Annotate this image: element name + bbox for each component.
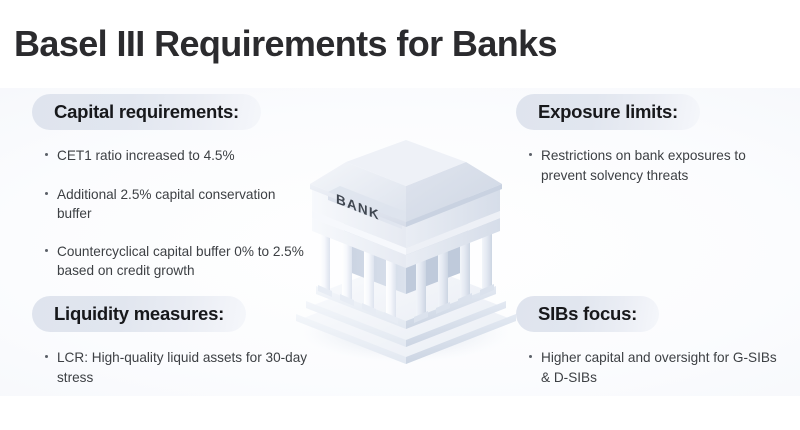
bullet-list-sibs-focus: Higher capital and oversight for G-SIBs …	[488, 348, 800, 387]
block-heading-capital-requirements: Capital requirements:	[32, 94, 261, 130]
list-item: Countercyclical capital buffer 0% to 2.5…	[44, 242, 309, 281]
block-heading-liquidity-measures: Liquidity measures:	[32, 296, 246, 332]
bullet-list-capital-requirements: CET1 ratio increased to 4.5% Additional …	[0, 146, 330, 280]
bullet-list-exposure-limits: Restrictions on bank exposures to preven…	[488, 146, 800, 185]
page-title: Basel III Requirements for Banks	[0, 24, 557, 64]
content-panel: Capital requirements: CET1 ratio increas…	[0, 88, 800, 396]
list-item: Additional 2.5% capital conservation buf…	[44, 185, 309, 224]
block-exposure-limits: Exposure limits: Restrictions on bank ex…	[488, 94, 800, 185]
bullet-list-liquidity-measures: LCR: High-quality liquid assets for 30-d…	[0, 348, 330, 387]
slide-root: Basel III Requirements for Banks Capital…	[0, 0, 800, 430]
block-sibs-focus: SIBs focus: Higher capital and oversight…	[488, 296, 800, 387]
title-bar: Basel III Requirements for Banks	[0, 0, 800, 88]
block-capital-requirements: Capital requirements: CET1 ratio increas…	[0, 94, 330, 281]
list-item: LCR: High-quality liquid assets for 30-d…	[44, 348, 309, 387]
bank-building-icon: BANK	[284, 126, 528, 364]
block-heading-exposure-limits: Exposure limits:	[516, 94, 700, 130]
block-liquidity-measures: Liquidity measures: LCR: High-quality li…	[0, 296, 330, 387]
block-heading-sibs-focus: SIBs focus:	[516, 296, 659, 332]
list-item: CET1 ratio increased to 4.5%	[44, 146, 309, 165]
list-item: Restrictions on bank exposures to preven…	[528, 146, 789, 185]
list-item: Higher capital and oversight for G-SIBs …	[528, 348, 789, 387]
